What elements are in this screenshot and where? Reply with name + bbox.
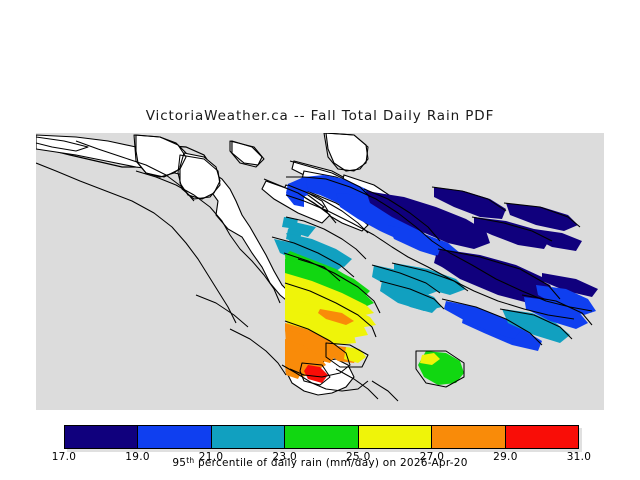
colorbar-band-29-31[interactable] xyxy=(506,426,578,448)
map-panel[interactable] xyxy=(36,133,604,410)
page-title: VictoriaWeather.ca -- Fall Total Daily R… xyxy=(0,108,640,124)
colorbar[interactable]: 17.0 19.0 21.0 23.0 25.0 27.0 29.0 31.0 xyxy=(64,425,579,449)
colorbar-band-17-19[interactable] xyxy=(65,426,138,448)
colorbar-swatches[interactable] xyxy=(64,425,579,449)
colorbar-band-23-25[interactable] xyxy=(285,426,358,448)
colorbar-band-27-29[interactable] xyxy=(432,426,505,448)
colorbar-band-19-21[interactable] xyxy=(138,426,211,448)
precipitation-map[interactable] xyxy=(36,133,604,410)
colorbar-band-25-27[interactable] xyxy=(359,426,432,448)
caption-description: percentile of daily rain (mm/day) on 202… xyxy=(194,457,467,469)
weather-map-page: VictoriaWeather.ca -- Fall Total Daily R… xyxy=(0,0,640,480)
colorbar-caption: 95th percentile of daily rain (mm/day) o… xyxy=(0,456,640,469)
colorbar-band-21-23[interactable] xyxy=(212,426,285,448)
caption-percentile-number: 95 xyxy=(172,457,186,469)
